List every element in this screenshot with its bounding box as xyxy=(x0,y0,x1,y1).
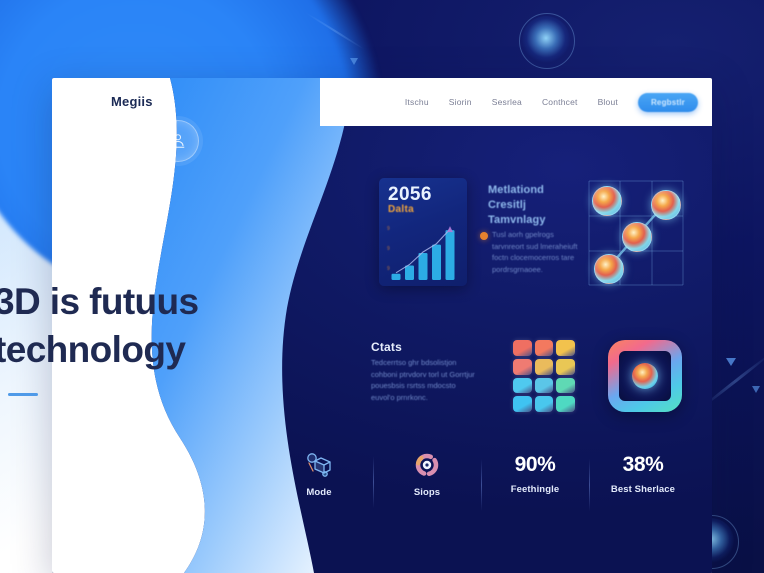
badge-emblem-icon xyxy=(157,120,199,162)
nav-link-blout[interactable]: Blout xyxy=(598,97,618,107)
ctats-heading: Ctats xyxy=(371,340,402,354)
stat-item-mode[interactable]: Mode xyxy=(265,450,373,498)
stat-item-best-sherlace[interactable]: 38% Best Sherlace xyxy=(589,453,697,495)
chart-value: 2056 xyxy=(388,184,432,206)
nav-links: Itschu Siorin Sesrlea Conthcet Blout Reg… xyxy=(405,93,698,112)
app-icon-inner xyxy=(619,351,671,401)
color-swatch-9[interactable] xyxy=(513,396,532,412)
register-button[interactable]: Regbstlr xyxy=(638,93,698,112)
color-swatch-11[interactable] xyxy=(556,396,575,412)
navbar: Itschu Siorin Sesrlea Conthcet Blout Reg… xyxy=(320,78,712,126)
chart-bar-2 xyxy=(419,253,428,280)
page-title: 3D is futuus technology xyxy=(0,278,324,374)
donut-chart-icon xyxy=(412,450,442,480)
feature-heading: Metlationd Cresitlj Tamvnlagy xyxy=(488,183,580,228)
app-icon-orb xyxy=(632,363,658,389)
stat-value-feethingle: 90% xyxy=(515,453,556,477)
chart-bar-3 xyxy=(432,245,441,280)
stat-label-feethingle: Feethingle xyxy=(511,484,560,495)
stat-item-feethingle[interactable]: 90% Feethingle xyxy=(481,453,589,495)
headline-accent-dash xyxy=(8,393,38,396)
color-swatch-0[interactable] xyxy=(513,340,532,356)
chart-bar-1 xyxy=(405,265,414,280)
network-node-diagram[interactable] xyxy=(588,180,684,286)
chart-bar-4 xyxy=(446,230,455,280)
stat-chart-card[interactable]: 2056 Dalta 9 9 9 xyxy=(379,178,467,286)
glow-orb-top-ring xyxy=(519,13,575,69)
headline-line-2: technology xyxy=(0,326,324,374)
node-bottom-left xyxy=(594,254,624,284)
headline-line-1: 3D is futuus xyxy=(0,278,324,326)
stat-label-mode: Mode xyxy=(306,487,331,498)
cube-network-icon xyxy=(304,450,334,480)
stat-label-siops: Siops xyxy=(414,487,440,498)
feature-body: Tusl aorh gpelrogs tarvnreort sud lmerah… xyxy=(492,229,580,275)
stat-item-siops[interactable]: Siops xyxy=(373,450,481,498)
color-swatch-3[interactable] xyxy=(513,359,532,375)
color-swatch-10[interactable] xyxy=(535,396,554,412)
nav-link-conthcet[interactable]: Conthcet xyxy=(542,97,578,107)
decor-triangle-3 xyxy=(350,58,358,65)
stat-label-best-sherlace: Best Sherlace xyxy=(611,484,675,495)
stat-value-best-sherlace: 38% xyxy=(623,453,664,477)
stats-row: Mode Siops 90% Feethingle 38% Best Sherl… xyxy=(265,440,697,508)
chart-bar-0 xyxy=(392,274,401,280)
color-swatch-7[interactable] xyxy=(535,378,554,394)
nav-link-sesrlea[interactable]: Sesrlea xyxy=(492,97,522,107)
ctats-body: Tedcerrtso ghr bdsolistjon cohboni ptrvd… xyxy=(371,357,477,403)
chart-plot xyxy=(387,222,459,280)
node-center xyxy=(622,222,652,252)
color-swatch-4[interactable] xyxy=(535,359,554,375)
color-swatch-8[interactable] xyxy=(556,378,575,394)
color-swatch-2[interactable] xyxy=(556,340,575,356)
feature-bullet-icon xyxy=(480,232,488,240)
nav-link-siorin[interactable]: Siorin xyxy=(449,97,472,107)
color-swatch-6[interactable] xyxy=(513,378,532,394)
gradient-app-icon[interactable] xyxy=(608,340,682,412)
color-swatch-5[interactable] xyxy=(556,359,575,375)
decor-triangle-1 xyxy=(726,358,736,366)
node-top-right xyxy=(651,190,681,220)
page-root: Itschu Siorin Sesrlea Conthcet Blout Reg… xyxy=(0,0,764,573)
color-swatch-grid[interactable] xyxy=(513,340,575,412)
node-top-left xyxy=(592,186,622,216)
logo-text[interactable]: Megiis xyxy=(111,94,153,109)
chart-subtitle: Dalta xyxy=(388,204,414,215)
color-swatch-1[interactable] xyxy=(535,340,554,356)
decor-triangle-2 xyxy=(752,386,760,393)
nav-link-itschu[interactable]: Itschu xyxy=(405,97,429,107)
